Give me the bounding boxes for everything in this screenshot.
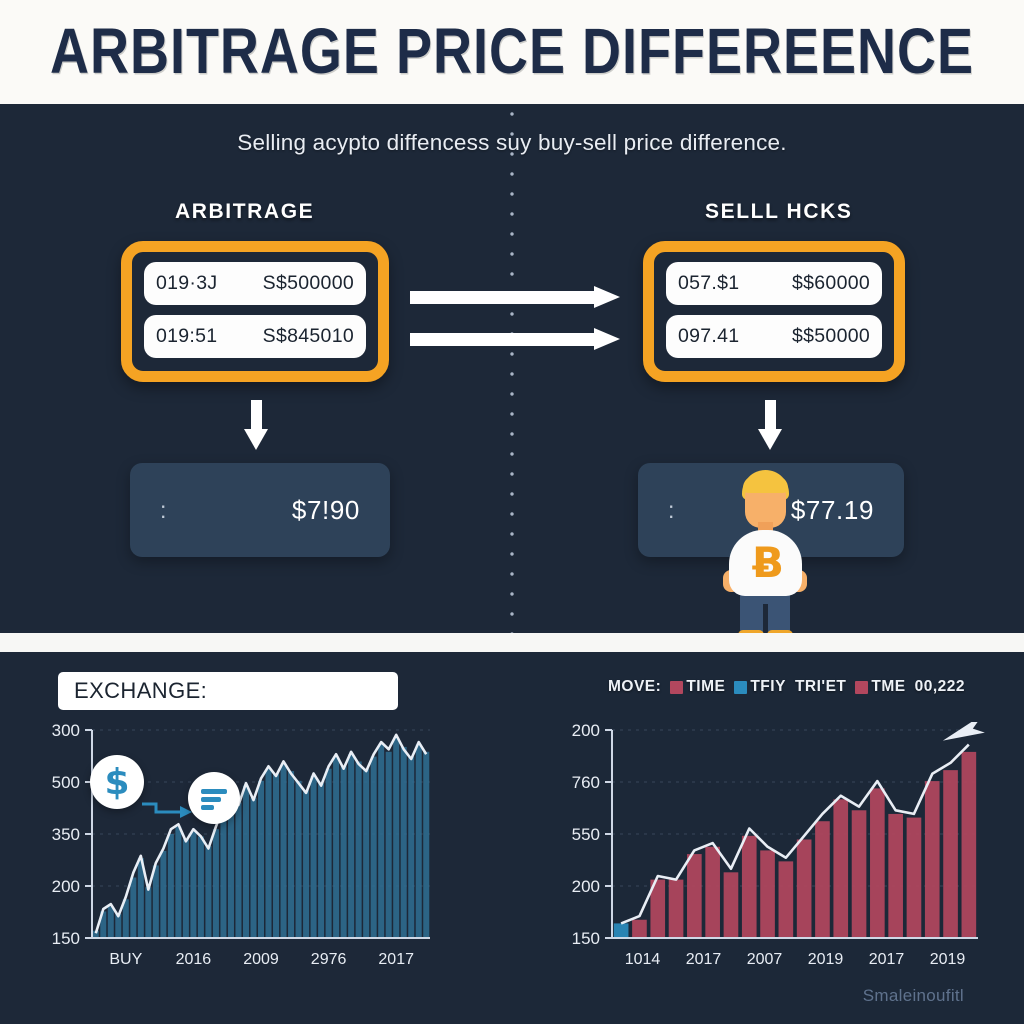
- svg-text:1014: 1014: [625, 951, 661, 968]
- right-price-card: 057.$1 $$60000 097.41 $$50000: [643, 241, 905, 382]
- row-value: S$500000: [263, 272, 354, 295]
- arrow-head: [758, 429, 782, 450]
- legend-swatch: [855, 681, 868, 694]
- arrow-head: [594, 328, 620, 350]
- row-value: S$845010: [263, 325, 354, 348]
- table-row[interactable]: 097.41 $$50000: [666, 315, 882, 358]
- legend-swatch: [670, 681, 683, 694]
- row-value: $$50000: [792, 325, 870, 348]
- vertical-dotted-divider-upper: [510, 104, 514, 633]
- row-value: $$60000: [792, 272, 870, 295]
- arrow-shaft: [410, 333, 594, 346]
- svg-text:2019: 2019: [930, 951, 966, 968]
- arrow-right-icon: [410, 328, 620, 350]
- arrow-head: [594, 286, 620, 308]
- exchange-field[interactable]: EXCHANGE:: [58, 672, 398, 710]
- svg-text:350: 350: [52, 825, 80, 844]
- svg-text:2017: 2017: [869, 951, 905, 968]
- left-result-box: : $7!90: [130, 463, 390, 557]
- arrow-head: [244, 429, 268, 450]
- svg-text:300: 300: [52, 722, 80, 740]
- list-line: [201, 797, 221, 802]
- svg-text:150: 150: [52, 929, 80, 948]
- arrow-shaft: [410, 291, 594, 304]
- legend-item[interactable]: TRI'ET: [795, 678, 846, 696]
- dollar-icon: $: [90, 755, 144, 809]
- move-bar-chart[interactable]: 200760550200150101420172007201920172019: [558, 722, 988, 972]
- title-band: ARBITRAGE PRICE DIFFEREENCE: [0, 0, 1024, 104]
- person-bitcoin-illustration: Ƀ: [710, 470, 820, 642]
- fringe: [743, 476, 788, 493]
- svg-text:2017: 2017: [686, 951, 722, 968]
- list-line: [201, 805, 214, 810]
- result-colon: :: [668, 497, 674, 524]
- dollar-glyph: $: [90, 755, 144, 809]
- arrow-down-icon: [244, 400, 268, 450]
- list-line: [201, 789, 227, 794]
- row-label: 057.$1: [678, 272, 739, 295]
- row-label: 019·3J: [156, 272, 217, 295]
- page-title: ARBITRAGE PRICE DIFFEREENCE: [50, 15, 974, 88]
- svg-text:2976: 2976: [311, 951, 347, 968]
- chart-legend: MOVE: TIME TFIY TRI'ET TME 00,222: [608, 678, 965, 696]
- result-colon: :: [160, 497, 166, 524]
- table-row[interactable]: 019:51 S$845010: [144, 315, 366, 358]
- legend-label: TRI'ET: [795, 678, 846, 696]
- svg-text:2009: 2009: [243, 951, 279, 968]
- legend-swatch: [734, 681, 747, 694]
- svg-text:200: 200: [572, 722, 600, 740]
- table-row[interactable]: 057.$1 $$60000: [666, 262, 882, 305]
- arrow-shaft: [251, 400, 262, 430]
- svg-text:200: 200: [52, 877, 80, 896]
- legend-item[interactable]: TFIY: [734, 678, 786, 696]
- svg-text:2017: 2017: [378, 951, 414, 968]
- legend-label: TME: [871, 678, 905, 696]
- arrow-shaft: [765, 400, 776, 430]
- right-column-heading: SELLL HCKS: [705, 200, 852, 224]
- exchange-label: EXCHANGE:: [74, 678, 207, 704]
- legend-prefix: MOVE:: [608, 678, 661, 696]
- arrow-down-icon: [758, 400, 782, 450]
- row-label: 097.41: [678, 325, 739, 348]
- legend-label: TFIY: [750, 678, 786, 696]
- svg-text:150: 150: [572, 929, 600, 948]
- svg-text:2016: 2016: [176, 951, 212, 968]
- svg-text:2007: 2007: [747, 951, 783, 968]
- svg-text:500: 500: [52, 773, 80, 792]
- bitcoin-icon: Ƀ: [752, 542, 780, 586]
- svg-text:2019: 2019: [808, 951, 844, 968]
- left-price-card: 019·3J S$500000 019:51 S$845010: [121, 241, 389, 382]
- left-column-heading: ARBITRAGE: [175, 200, 314, 224]
- legend-label: 00,222: [915, 678, 965, 696]
- svg-text:550: 550: [572, 825, 600, 844]
- svg-text:760: 760: [572, 773, 600, 792]
- svg-text:BUY: BUY: [109, 951, 142, 968]
- legend-label: TIME: [686, 678, 725, 696]
- infographic-page: ARBITRAGE PRICE DIFFEREENCE Selling acyp…: [0, 0, 1024, 1024]
- list-lines-icon: [188, 772, 240, 824]
- result-amount: $7!90: [292, 495, 360, 526]
- horizontal-divider-band: [0, 633, 1024, 652]
- watermark: Smaleinoufitl: [863, 986, 964, 1006]
- legend-item[interactable]: TME: [855, 678, 905, 696]
- arrow-right-icon: [410, 286, 620, 308]
- svg-text:200: 200: [572, 877, 600, 896]
- legend-item[interactable]: 00,222: [915, 678, 965, 696]
- table-row[interactable]: 019·3J S$500000: [144, 262, 366, 305]
- row-label: 019:51: [156, 325, 217, 348]
- legend-item[interactable]: TIME: [670, 678, 725, 696]
